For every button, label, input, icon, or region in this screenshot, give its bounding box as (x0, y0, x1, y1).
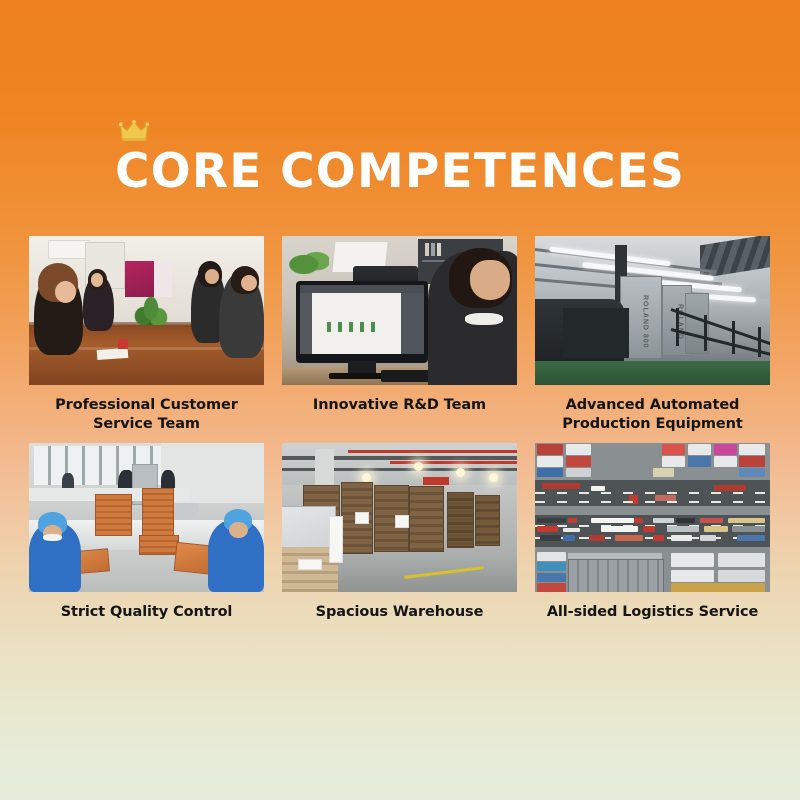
competence-cell-3: ROLAND 800 ROLAND Advanced Automated Pro… (535, 236, 770, 436)
competence-cell-2: Innovative R&D Team (282, 236, 517, 436)
competences-grid: Professional Customer Service Team (29, 236, 771, 641)
title-wrap: CORE COMPETENCES (115, 148, 685, 195)
warehouse-scene (282, 443, 517, 592)
quality-control-scene (29, 443, 264, 592)
page-title: CORE COMPETENCES (115, 148, 685, 195)
competence-cell-1: Professional Customer Service Team (29, 236, 264, 436)
production-equipment-scene: ROLAND 800 ROLAND (535, 236, 770, 385)
competence-caption: All-sided Logistics Service (535, 603, 770, 641)
core-competences-poster: CORE COMPETENCES Professional Custome (0, 0, 800, 800)
competence-cell-4: Strict Quality Control (29, 443, 264, 641)
competence-caption: Professional Customer Service Team (29, 396, 264, 436)
designer-at-monitor-photo[interactable] (282, 236, 517, 385)
competence-caption: Spacious Warehouse (282, 603, 517, 641)
crown-icon (119, 120, 149, 142)
competence-cell-6: All-sided Logistics Service (535, 443, 770, 641)
meeting-room-photo[interactable] (29, 236, 264, 385)
warehouse-photo[interactable] (282, 443, 517, 592)
quality-control-photo[interactable] (29, 443, 264, 592)
meeting-room-scene (29, 236, 264, 385)
logistics-scene (535, 443, 770, 592)
competence-caption: Strict Quality Control (29, 603, 264, 641)
competence-caption: Innovative R&D Team (282, 396, 517, 436)
title-block: CORE COMPETENCES (0, 148, 800, 195)
rd-team-scene (282, 236, 517, 385)
competence-caption: Advanced Automated Production Equipment (535, 396, 770, 436)
printing-press-photo[interactable]: ROLAND 800 ROLAND (535, 236, 770, 385)
competence-cell-5: Spacious Warehouse (282, 443, 517, 641)
logistics-aerial-photo[interactable] (535, 443, 770, 592)
